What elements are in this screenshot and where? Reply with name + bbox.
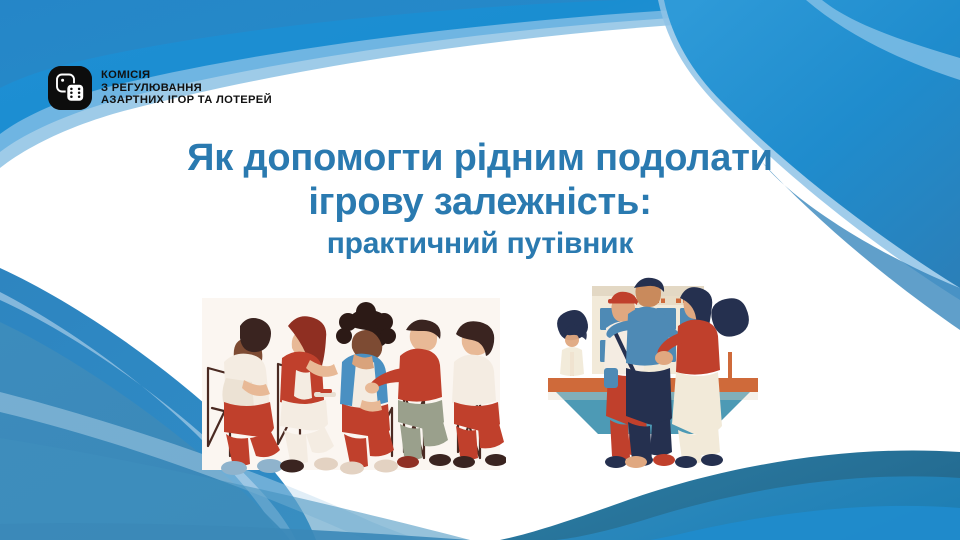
title-line-1: Як допомогти рідним подолати <box>0 136 960 180</box>
right-wedge-stripe <box>806 0 960 80</box>
family-greeting-illustration <box>548 268 758 484</box>
page-title: Як допомогти рідним подолати ігрову зале… <box>0 136 960 264</box>
support-group-svg <box>196 296 506 486</box>
dice-logo-icon <box>48 66 92 110</box>
logo-line-1: КОМІСІЯ <box>101 69 272 82</box>
bottom-right-wave-mid <box>556 476 960 540</box>
brand-logo-text: КОМІСІЯ З РЕГУЛЮВАННЯ АЗАРТНИХ ІГОР ТА Л… <box>101 69 272 107</box>
logo-line-3: АЗАРТНИХ ІГОР ТА ЛОТЕРЕЙ <box>101 94 272 107</box>
brand-logo: КОМІСІЯ З РЕГУЛЮВАННЯ АЗАРТНИХ ІГОР ТА Л… <box>48 66 272 110</box>
bottom-right-wave-bright <box>650 506 960 540</box>
title-line-2: ігрову залежність: <box>0 180 960 224</box>
family-greeting-svg <box>548 268 758 484</box>
bottom-base-strip <box>0 523 470 540</box>
logo-line-2: З РЕГУЛЮВАННЯ <box>101 82 272 95</box>
support-group-illustration <box>196 296 506 486</box>
title-line-3: практичний путівник <box>0 224 960 264</box>
slide-canvas: КОМІСІЯ З РЕГУЛЮВАННЯ АЗАРТНИХ ІГОР ТА Л… <box>0 0 960 540</box>
